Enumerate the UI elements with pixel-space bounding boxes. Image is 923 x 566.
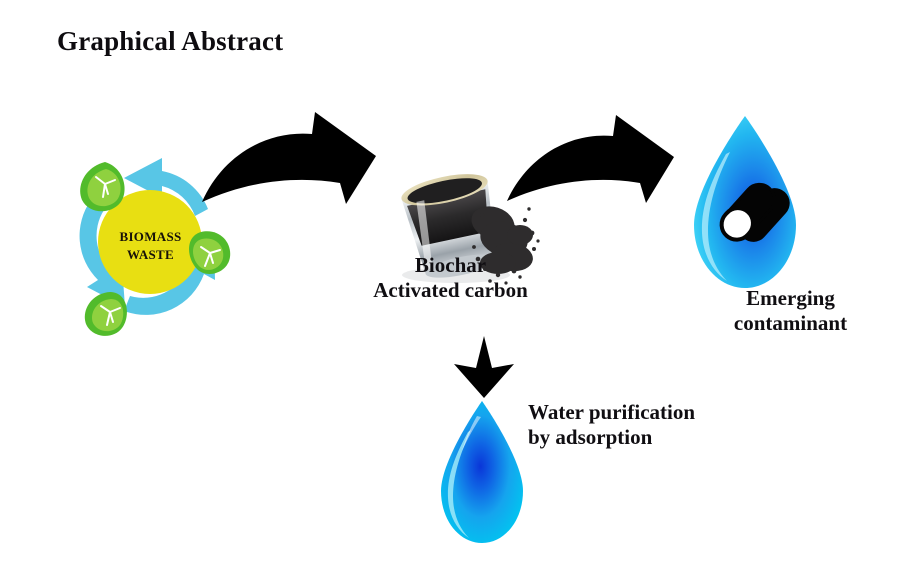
arrow-biomass-to-biochar-icon (200, 104, 415, 209)
water-label-line1: Water purification (528, 400, 743, 425)
contaminant-label: Emerging contaminant (703, 286, 878, 336)
biomass-label-line1: BIOMASS (58, 228, 243, 246)
biochar-label: Biochar Activated carbon (348, 253, 553, 303)
contaminant-drop-icon (686, 112, 804, 292)
biomass-label-line2: WASTE (58, 246, 243, 264)
contaminant-label-line1: Emerging (703, 286, 878, 311)
contaminant-label-line2: contaminant (703, 311, 878, 336)
water-label-line2: by adsorption (528, 425, 743, 450)
graphical-abstract-canvas: Graphical Abstract (0, 0, 923, 566)
page-title: Graphical Abstract (57, 26, 283, 57)
leaf-icon-top-left (80, 162, 124, 211)
water-purification-label: Water purification by adsorption (528, 400, 743, 450)
arrow-contaminant-to-biochar-icon (505, 108, 710, 208)
biomass-label: BIOMASS WASTE (58, 228, 243, 263)
purified-water-drop-icon (437, 398, 527, 546)
leaf-icon-bottom-left (85, 292, 127, 336)
biochar-label-line2: Activated carbon (348, 278, 553, 303)
arrow-biochar-to-water-icon (452, 336, 516, 398)
biochar-label-line1: Biochar (348, 253, 553, 278)
